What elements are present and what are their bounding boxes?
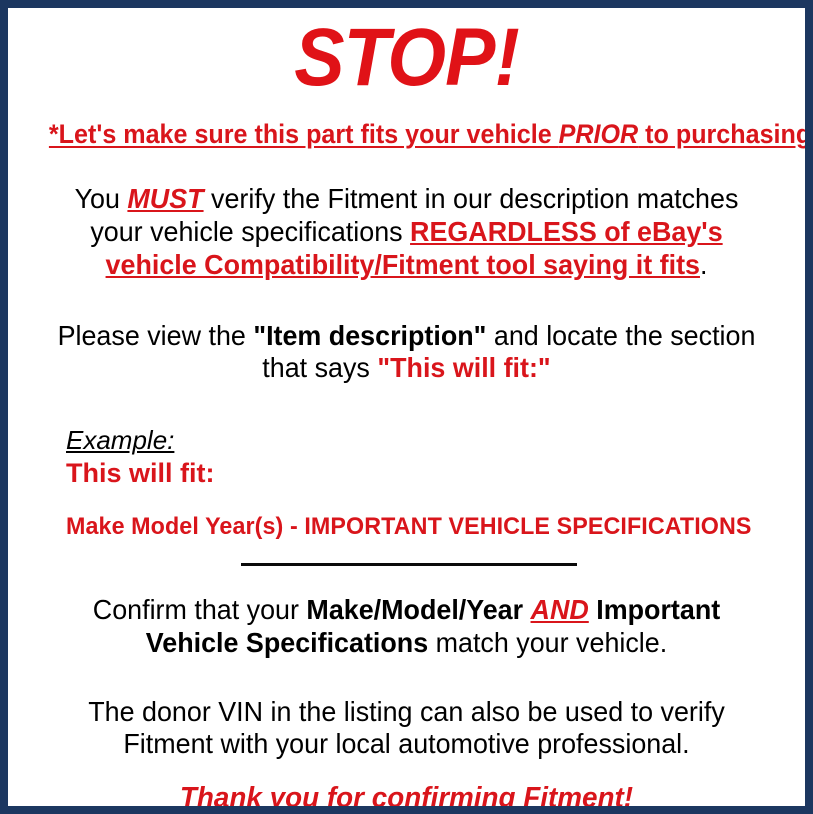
example-block: Example: This will fit: Make Model Year(… — [22, 425, 791, 541]
fitment-notice-card: STOP! *Let's make sure this part fits yo… — [0, 0, 813, 814]
donor-vin-paragraph: The donor VIN in the listing can also be… — [37, 696, 775, 762]
example-fit-heading: This will fit: — [66, 458, 791, 489]
must-verify-paragraph: You MUST verify the Fitment in our descr… — [37, 183, 775, 281]
divider-wrapper — [22, 563, 791, 566]
confirm-part2: match your vehicle. — [428, 627, 667, 658]
make-model-year-emphasis: Make/Model/Year — [306, 594, 523, 625]
confirm-paragraph: Confirm that your Make/Model/Year AND Im… — [37, 594, 775, 660]
item-description-paragraph: Please view the "Item description" and l… — [37, 320, 775, 386]
confirm-part1: Confirm that your — [93, 594, 307, 625]
example-label: Example: — [66, 425, 174, 456]
this-will-fit-quote: "This will fit:" — [377, 352, 550, 383]
tagline-lead: *Let's make sure this part fits your veh… — [49, 119, 559, 149]
must-emphasis: MUST — [127, 183, 203, 214]
tagline: *Let's make sure this part fits your veh… — [49, 120, 764, 150]
example-spec-line: Make Model Year(s) - IMPORTANT VEHICLE S… — [66, 513, 769, 541]
tagline-tail: to purchasing* — [638, 119, 813, 149]
example-label-row: Example: — [66, 425, 791, 456]
thank-you-message: Thank you for confirming Fitment! — [37, 783, 775, 814]
item-desc-part1: Please view the — [58, 320, 254, 351]
item-description-label: "Item description" — [253, 320, 486, 351]
tagline-emphasis-prior: PRIOR — [559, 119, 639, 149]
must-paragraph-part3: . — [700, 249, 707, 280]
must-paragraph-part1: You — [75, 183, 128, 214]
horizontal-divider — [241, 563, 577, 566]
notice-content: STOP! *Let's make sure this part fits yo… — [8, 8, 805, 806]
confirm-space1 — [523, 594, 530, 625]
page-title: STOP! — [53, 8, 760, 100]
and-emphasis: AND — [531, 594, 589, 625]
